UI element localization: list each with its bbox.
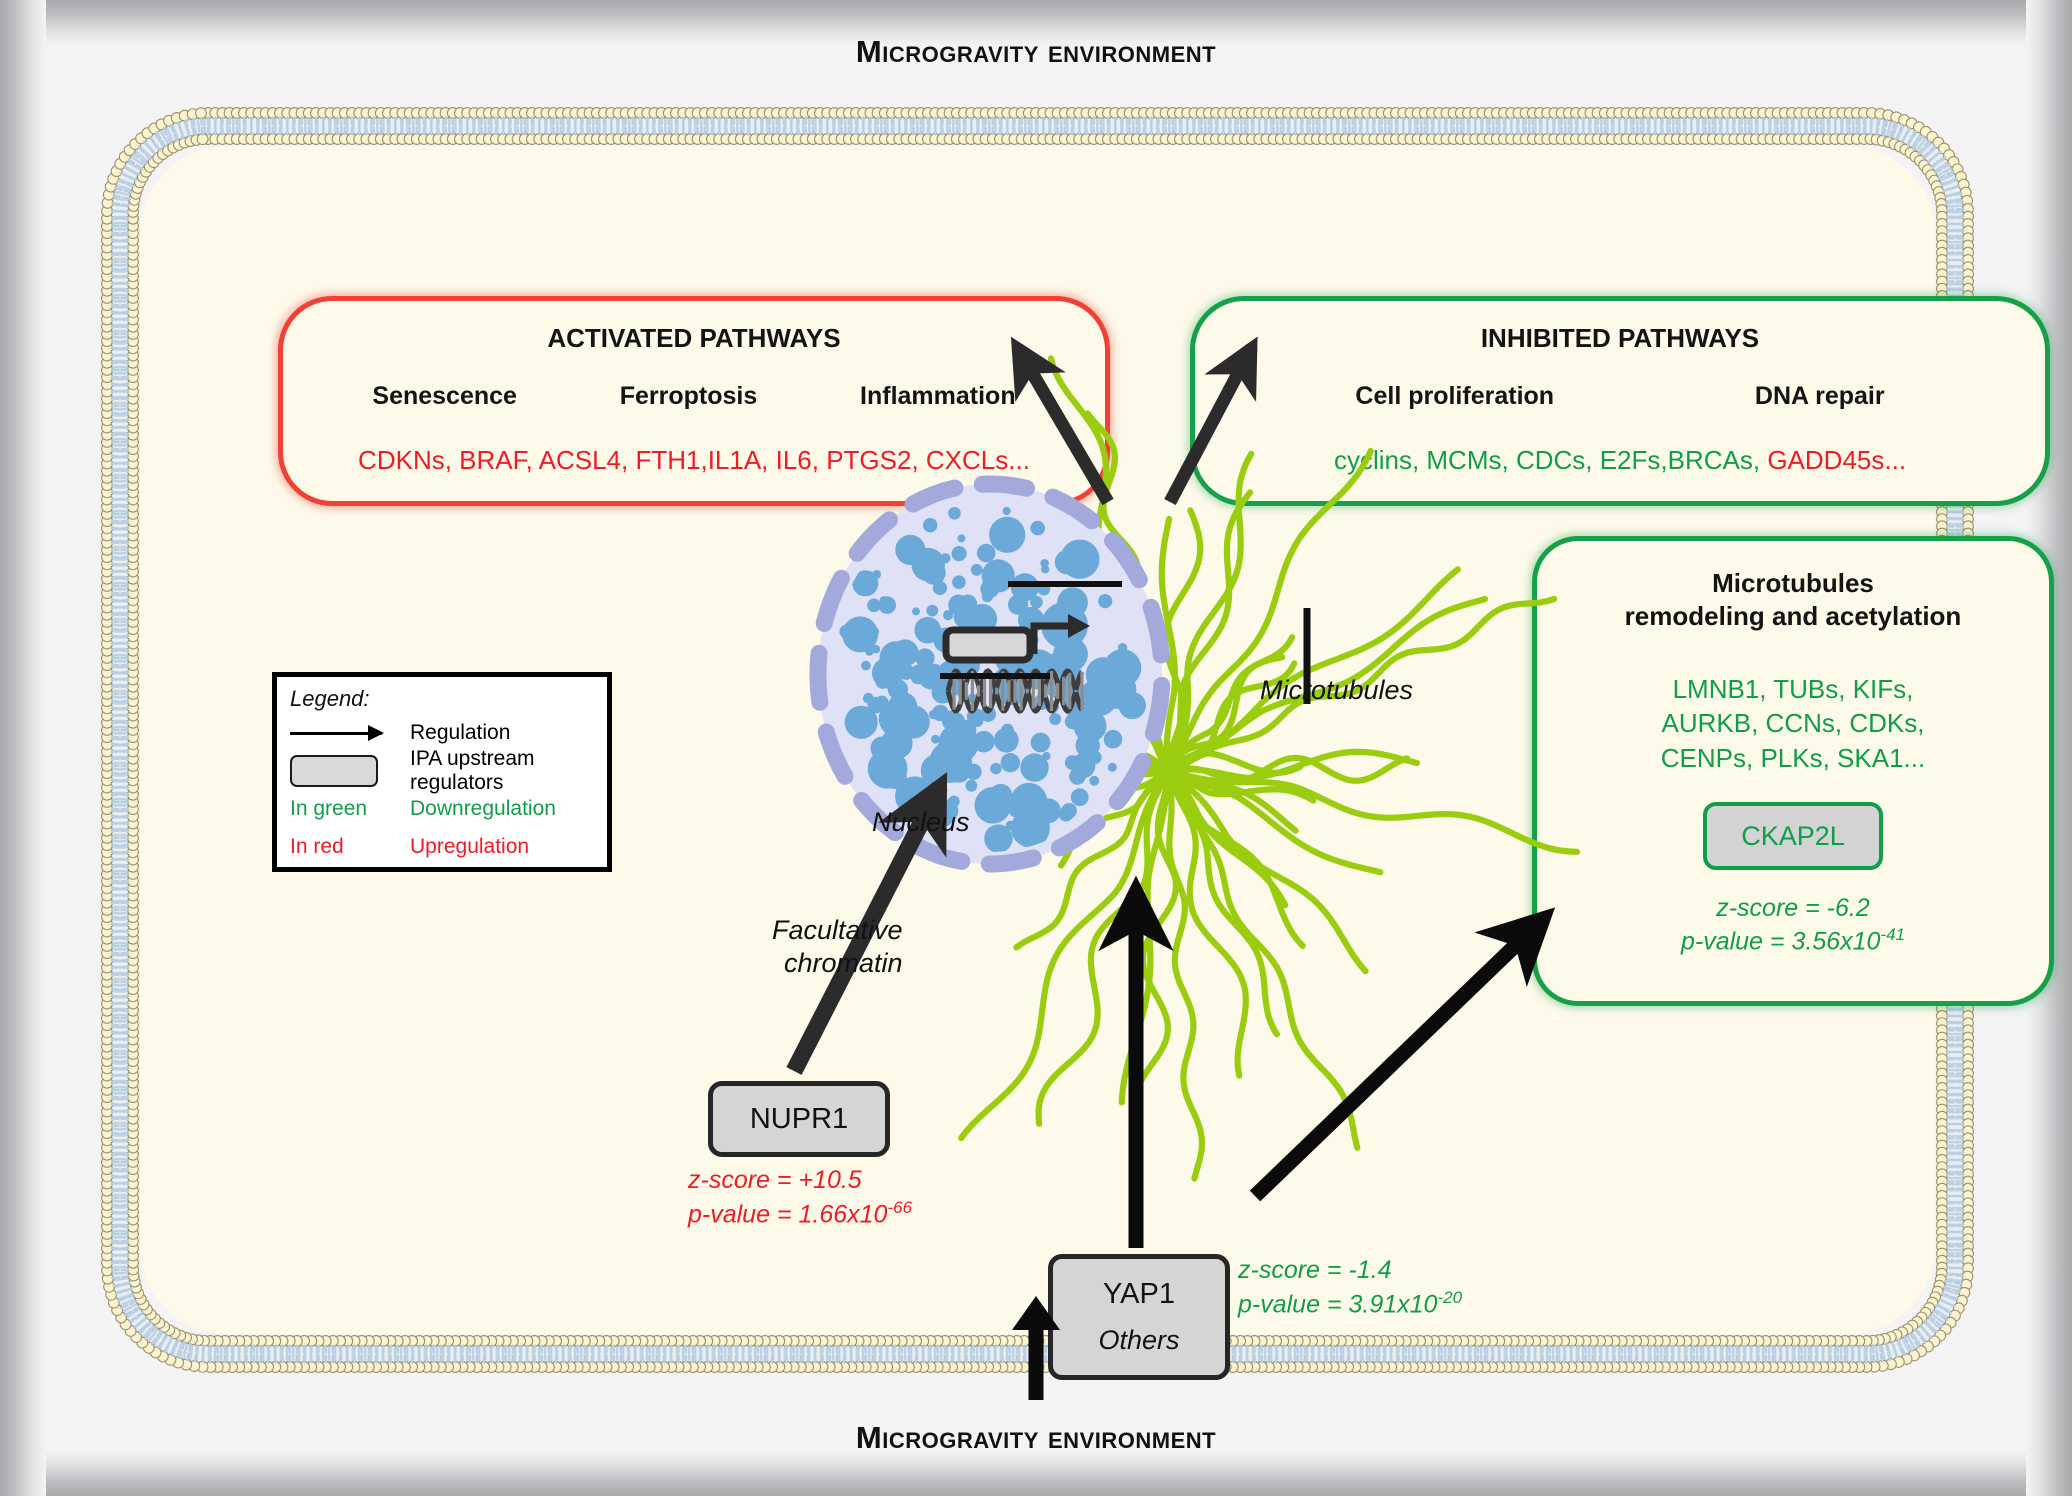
arrow-microgravity-head (1012, 1296, 1060, 1330)
diagram-canvas: Microgravity environment (0, 0, 2072, 1496)
microgravity-environment-title-bottom: Microgravity environment (0, 1420, 2072, 1456)
external-stimulus-arrow-layer (0, 0, 2072, 1496)
